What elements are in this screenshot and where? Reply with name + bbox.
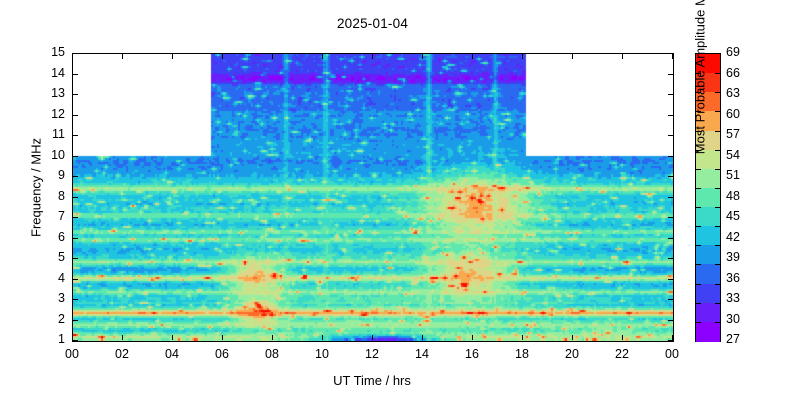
x-axis-tick-label: 20 (552, 347, 592, 361)
colorbar-tick-label: 36 (726, 271, 740, 285)
colorbar-tick (715, 245, 720, 246)
y-axis-tick (668, 74, 673, 75)
x-axis-tick (372, 335, 373, 340)
x-axis-tick (622, 335, 623, 340)
y-axis-tick (73, 238, 78, 239)
x-axis-tick (572, 54, 573, 59)
x-axis-tick (272, 54, 273, 59)
y-axis-tick (73, 320, 78, 321)
colorbar-tick-label: 48 (726, 189, 740, 203)
colorbar-tick (715, 284, 720, 285)
y-axis-tick (73, 258, 78, 259)
colorbar-tick-label: 33 (726, 291, 740, 305)
colorbar-tick (696, 284, 701, 285)
x-axis-tick-label: 04 (152, 347, 192, 361)
colorbar-tick-label: 39 (726, 250, 740, 264)
y-axis-tick (73, 299, 78, 300)
y-axis-tick (668, 176, 673, 177)
colorbar-tick (715, 188, 720, 189)
colorbar-tick (715, 226, 720, 227)
x-axis-tick-label: 06 (202, 347, 242, 361)
colorbar-band (696, 303, 720, 323)
heatmap-plot-area (72, 53, 674, 342)
x-axis-label: UT Time / hrs (72, 373, 672, 388)
x-axis-tick (222, 335, 223, 340)
y-axis-tick (668, 135, 673, 136)
x-axis-tick (372, 54, 373, 59)
y-axis-tick (73, 340, 78, 341)
colorbar-tick-label: 27 (726, 332, 740, 346)
x-axis-tick (422, 54, 423, 59)
x-axis-tick-label: 14 (402, 347, 442, 361)
colorbar-tick (715, 92, 720, 93)
x-axis-tick (522, 54, 523, 59)
y-axis-tick-label: 1 (25, 332, 65, 346)
y-axis-tick-label: 15 (25, 45, 65, 59)
x-axis-tick-label: 10 (302, 347, 342, 361)
y-axis-tick (668, 53, 673, 54)
y-axis-tick (73, 156, 78, 157)
y-axis-tick (668, 258, 673, 259)
colorbar-label: Most Probable Amplitude MPA / dB (693, 0, 708, 204)
y-axis-tick-label: 2 (25, 312, 65, 326)
colorbar-tick-label: 57 (726, 127, 740, 141)
colorbar-band (696, 207, 720, 227)
colorbar-tick-label: 45 (726, 209, 740, 223)
colorbar-tick (715, 131, 720, 132)
colorbar-band (696, 322, 720, 342)
colorbar-tick-label: 42 (726, 230, 740, 244)
x-axis-tick-label: 22 (602, 347, 642, 361)
x-axis-tick (322, 335, 323, 340)
x-axis-tick (422, 335, 423, 340)
colorbar-tick-label: 69 (726, 45, 740, 59)
x-axis-tick (272, 335, 273, 340)
y-axis-tick (73, 197, 78, 198)
y-axis-tick (668, 320, 673, 321)
y-axis-tick (668, 156, 673, 157)
colorbar-tick (696, 226, 701, 227)
colorbar-tick-label: 60 (726, 107, 740, 121)
x-axis-tick-label: 18 (502, 347, 542, 361)
colorbar-tick (696, 264, 701, 265)
colorbar-tick (715, 150, 720, 151)
y-axis-tick (73, 217, 78, 218)
y-axis-tick (73, 94, 78, 95)
x-axis-tick (622, 54, 623, 59)
y-axis-tick (668, 115, 673, 116)
x-axis-tick-label: 02 (102, 347, 142, 361)
y-axis-tick (73, 176, 78, 177)
x-axis-tick-label: 12 (352, 347, 392, 361)
y-axis-tick (668, 197, 673, 198)
y-axis-tick (73, 115, 78, 116)
y-axis-tick (73, 135, 78, 136)
x-axis-tick (522, 335, 523, 340)
y-axis-tick (73, 279, 78, 280)
x-axis-tick-label: 00 (652, 347, 692, 361)
colorbar-tick-label: 66 (726, 66, 740, 80)
y-axis-tick (668, 217, 673, 218)
colorbar-tick (715, 207, 720, 208)
y-axis-tick (668, 340, 673, 341)
x-axis-tick (222, 54, 223, 59)
x-axis-tick (122, 335, 123, 340)
heatmap-image (73, 54, 673, 341)
colorbar-band (696, 284, 720, 304)
x-axis-tick (472, 54, 473, 59)
chart-title: 2025-01-04 (0, 16, 745, 31)
colorbar-tick (696, 303, 701, 304)
colorbar-tick-label: 63 (726, 86, 740, 100)
y-axis-tick (73, 53, 78, 54)
x-axis-tick (72, 54, 73, 59)
colorbar-tick (715, 73, 720, 74)
colorbar-tick (715, 264, 720, 265)
x-axis-tick (322, 54, 323, 59)
x-axis-tick-label: 00 (52, 347, 92, 361)
colorbar-tick (696, 207, 701, 208)
y-axis-tick (668, 238, 673, 239)
colorbar-tick-label: 30 (726, 312, 740, 326)
y-axis-tick (668, 299, 673, 300)
colorbar-tick (696, 245, 701, 246)
spectrogram-figure: 2025-01-04 00020406081012141618202200123… (0, 0, 800, 400)
x-axis-tick (122, 54, 123, 59)
y-axis-tick (668, 94, 673, 95)
x-axis-tick (172, 54, 173, 59)
colorbar-band (696, 264, 720, 284)
colorbar-band (696, 226, 720, 246)
colorbar-band (696, 245, 720, 265)
x-axis-tick (572, 335, 573, 340)
y-axis-tick (668, 279, 673, 280)
x-axis-tick (172, 335, 173, 340)
colorbar-tick (715, 303, 720, 304)
x-axis-tick (472, 335, 473, 340)
colorbar-tick-label: 51 (726, 168, 740, 182)
colorbar-tick (696, 322, 701, 323)
colorbar-tick (715, 169, 720, 170)
y-axis-label: Frequency / MHz (29, 68, 44, 308)
colorbar-tick (715, 322, 720, 323)
x-axis-tick-label: 16 (452, 347, 492, 361)
y-axis-tick (73, 74, 78, 75)
colorbar-tick-label: 54 (726, 148, 740, 162)
x-axis-tick (672, 54, 673, 59)
x-axis-tick-label: 08 (252, 347, 292, 361)
colorbar-tick (715, 111, 720, 112)
